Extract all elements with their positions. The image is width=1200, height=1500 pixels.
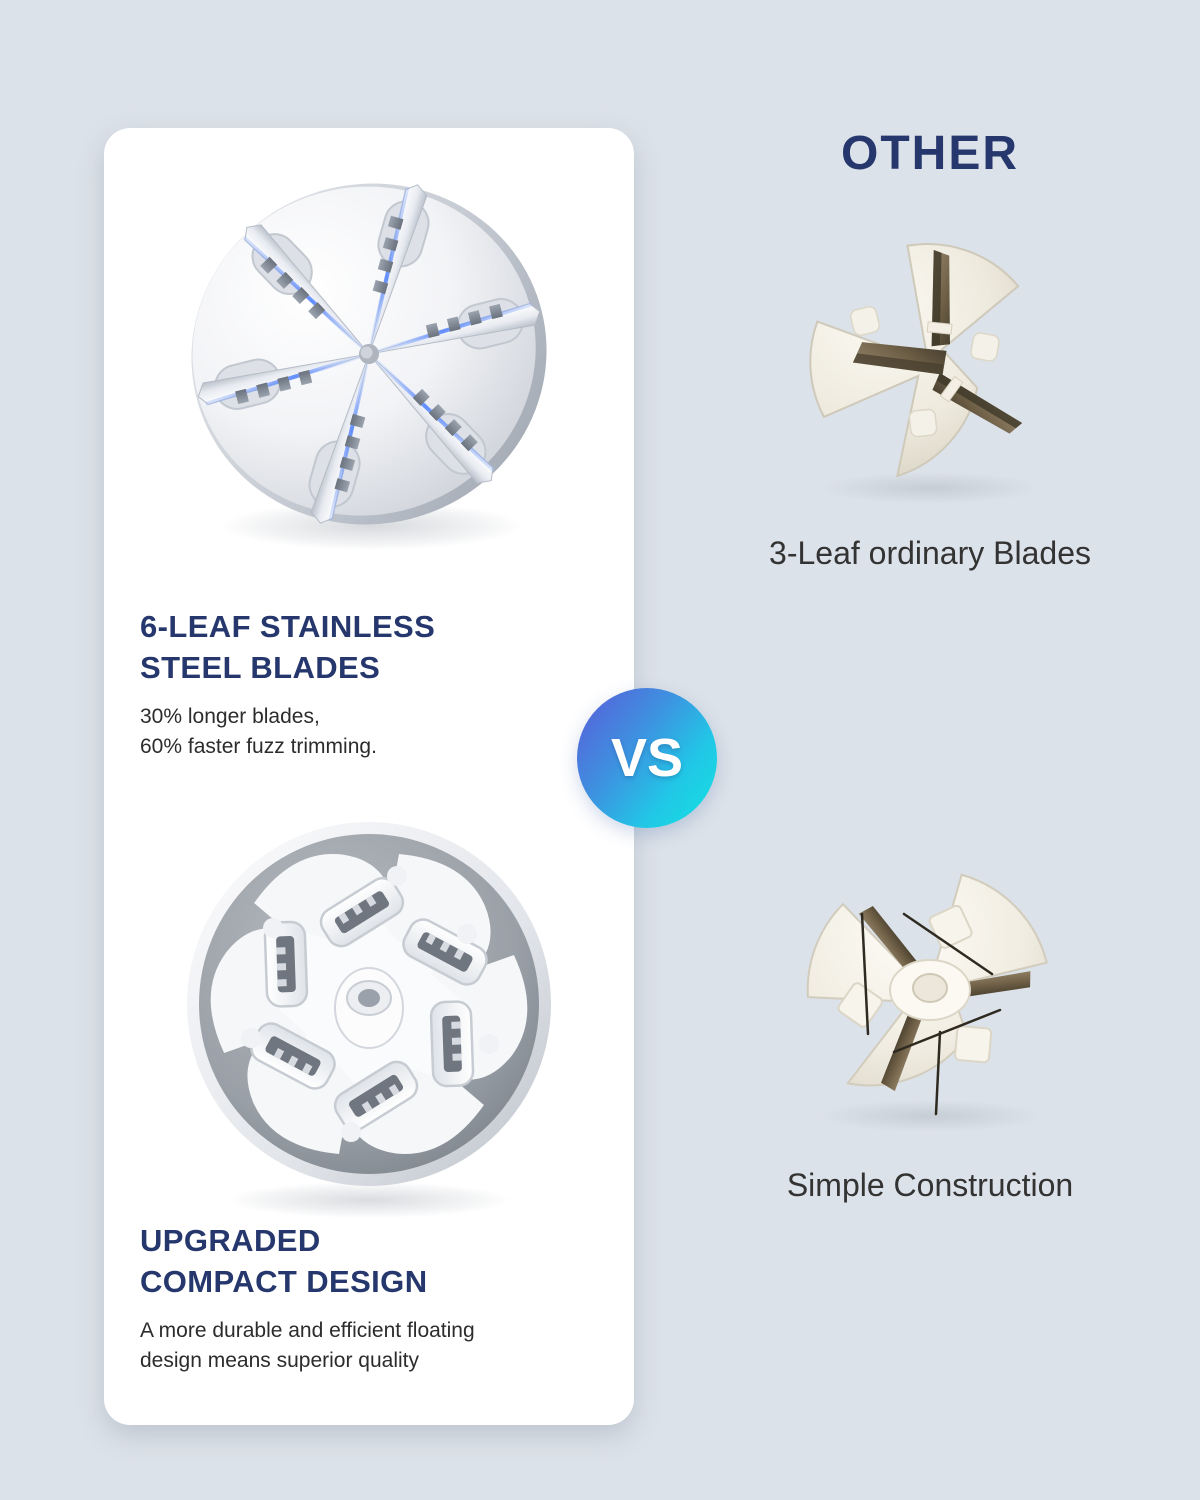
- infographic-stage: 6-LEAF STAINLESS STEEL BLADES 30% longer…: [0, 0, 1200, 1500]
- other-caption-simple-construction: Simple Construction: [680, 1166, 1180, 1204]
- feature-block-design: UPGRADED COMPACT DESIGN A more durable a…: [140, 1220, 616, 1376]
- simple-construction-blade-head-image: [770, 848, 1090, 1148]
- feature-description-blades: 30% longer blades, 60% faster fuzz trimm…: [140, 702, 616, 762]
- feature-title-blades: 6-LEAF STAINLESS STEEL BLADES: [140, 606, 616, 688]
- upgraded-compact-blade-assembly-image: [104, 808, 634, 1228]
- six-leaf-stainless-steel-blade-head-image: [104, 154, 634, 574]
- other-caption-three-leaf: 3-Leaf ordinary Blades: [680, 534, 1180, 572]
- product-feature-card: 6-LEAF STAINLESS STEEL BLADES 30% longer…: [104, 128, 634, 1425]
- other-item-three-leaf: 3-Leaf ordinary Blades: [680, 216, 1180, 572]
- feature-block-blades: 6-LEAF STAINLESS STEEL BLADES 30% longer…: [140, 606, 616, 762]
- three-leaf-ordinary-blade-head-image: [770, 216, 1090, 516]
- other-column-heading: OTHER: [680, 126, 1180, 181]
- other-item-simple-construction: Simple Construction: [680, 848, 1180, 1204]
- vs-badge-label: VS: [611, 731, 683, 785]
- feature-description-design: A more durable and efficient floating de…: [140, 1316, 616, 1376]
- vs-badge: VS: [577, 688, 717, 828]
- feature-title-design: UPGRADED COMPACT DESIGN: [140, 1220, 616, 1302]
